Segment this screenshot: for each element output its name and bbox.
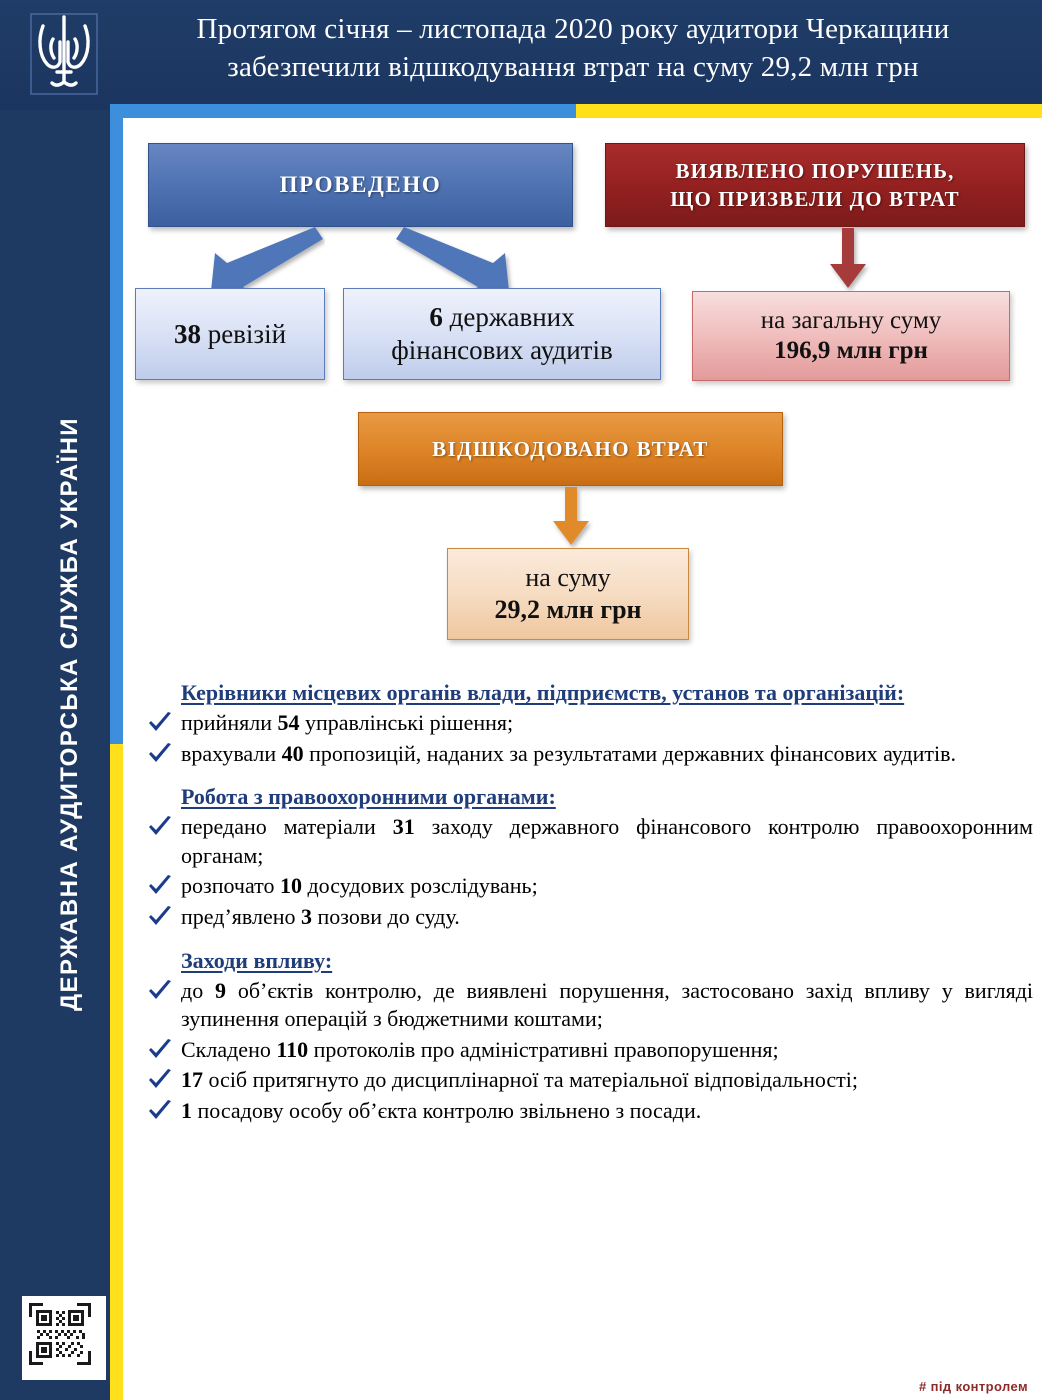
box-vyyavleno-line1: ВИЯВЛЕНО ПОРУШЕНЬ,: [675, 157, 954, 185]
box-vyyavleno-porushen[interactable]: ВИЯВЛЕНО ПОРУШЕНЬ, ЩО ПРИЗВЕЛИ ДО ВТРАТ: [605, 143, 1025, 227]
infographic-page: Протягом січня – листопада 2020 року ауд…: [0, 0, 1042, 1400]
box-suma-292-line2: 29,2 млн грн: [494, 594, 641, 626]
list-item: 17 осіб притягнуто до дисциплінарної та …: [143, 1066, 1033, 1095]
qr-code[interactable]: [22, 1296, 106, 1380]
check-icon: [147, 711, 173, 735]
list-item: Складено 110 протоколів про адміністрати…: [143, 1036, 1033, 1065]
list-item-text: прийняли 54 управлінські рішення;: [181, 710, 513, 735]
list-item: пред’явлено 3 позови до суду.: [143, 903, 1033, 932]
box-audyty-line1: 6 державних: [429, 301, 574, 334]
box-vidshkodovano-label: ВІДШКОДОВАНО ВТРАТ: [432, 437, 709, 462]
list-item-text: Складено 110 протоколів про адміністрати…: [181, 1037, 779, 1062]
hashtag-pid-kontrolem: # під контролем: [919, 1379, 1028, 1394]
box-provedeno-label: ПРОВЕДЕНО: [280, 172, 442, 198]
box-revizii-number: 38: [174, 319, 201, 349]
box-suma-292-line1: на суму: [525, 562, 610, 594]
list-item-text: передано матеріали 31 заходу державного …: [181, 814, 1033, 868]
check-icon: [147, 815, 173, 839]
section-heading: Робота з правоохоронними органами:: [181, 782, 1033, 811]
page-title: Протягом січня – листопада 2020 року ауд…: [118, 10, 1028, 87]
section-zakhody-vplyvu: Заходи впливу: до 9 об’єктів контролю, д…: [143, 946, 1033, 1126]
list-item-text: 17 осіб притягнуто до дисциплінарної та …: [181, 1067, 858, 1092]
check-icon: [147, 1038, 173, 1062]
box-audyty-line2: фінансових аудитів: [391, 334, 612, 367]
ukraine-trident-emblem: [20, 8, 108, 100]
list-item-text: врахували 40 пропозицій, наданих за резу…: [181, 741, 956, 766]
box-vyyavleno-line2: ЩО ПРИЗВЕЛИ ДО ВТРАТ: [670, 185, 959, 213]
list-item: передано матеріали 31 заходу державного …: [143, 813, 1033, 870]
box-vidshkodovano-vtrat[interactable]: ВІДШКОДОВАНО ВТРАТ: [358, 412, 783, 486]
section-kerivnyky: Керівники місцевих органів влади, підпри…: [143, 678, 1033, 768]
list-item-text: розпочато 10 досудових розслідувань;: [181, 873, 538, 898]
check-icon: [147, 742, 173, 766]
sections-list: Керівники місцевих органів влади, підпри…: [143, 678, 1033, 1140]
section-heading: Заходи впливу:: [181, 946, 1033, 975]
box-revizii[interactable]: 38 ревізій: [135, 288, 325, 380]
page-title-line1: Протягом січня – листопада 2020 року ауд…: [118, 10, 1028, 48]
flag-stripe-left: [110, 104, 123, 1400]
box-revizii-label: ревізій: [201, 319, 286, 349]
list-item-text: 1 посадову особу об’єкта контролю звільн…: [181, 1098, 701, 1123]
sidebar-agency-label: ДЕРЖАВНА АУДИТОРСЬКА СЛУЖБА УКРАЇНИ: [56, 314, 84, 1114]
check-icon: [147, 1099, 173, 1123]
flag-stripe-left-yellow: [110, 744, 123, 1400]
list-item: до 9 об’єктів контролю, де виявлені пору…: [143, 977, 1033, 1034]
header-banner: Протягом січня – листопада 2020 року ауд…: [0, 0, 1042, 110]
flag-stripe-top: [110, 104, 1042, 118]
box-revizii-text: 38 ревізій: [174, 319, 286, 350]
list-item-text: пред’явлено 3 позови до суду.: [181, 904, 460, 929]
box-audyty-label: державних: [443, 302, 575, 332]
check-icon: [147, 874, 173, 898]
box-audyty-number: 6: [429, 302, 443, 332]
page-title-line2: забезпечили відшкодування втрат на суму …: [118, 48, 1028, 86]
box-suma-196[interactable]: на загальну суму 196,9 млн грн: [692, 291, 1010, 381]
flag-stripe-top-yellow: [576, 104, 1042, 118]
flag-stripe-top-blue: [110, 104, 576, 118]
check-icon: [147, 979, 173, 1003]
box-suma-292[interactable]: на суму 29,2 млн грн: [447, 548, 689, 640]
list-item: 1 посадову особу об’єкта контролю звільн…: [143, 1097, 1033, 1126]
box-suma-196-line1: на загальну суму: [761, 306, 942, 337]
list-item: розпочато 10 досудових розслідувань;: [143, 872, 1033, 901]
check-icon: [147, 1068, 173, 1092]
box-suma-196-line2: 196,9 млн грн: [774, 336, 928, 367]
list-item: прийняли 54 управлінські рішення;: [143, 709, 1033, 738]
box-provedeno[interactable]: ПРОВЕДЕНО: [148, 143, 573, 227]
flag-stripe-left-blue: [110, 104, 123, 744]
section-heading: Керівники місцевих органів влади, підпри…: [181, 678, 1033, 707]
box-audyty[interactable]: 6 державних фінансових аудитів: [343, 288, 661, 380]
section-pravookhoronni: Робота з правоохоронними органами: перед…: [143, 782, 1033, 931]
list-item: врахували 40 пропозицій, наданих за резу…: [143, 740, 1033, 769]
list-item-text: до 9 об’єктів контролю, де виявлені пору…: [181, 978, 1033, 1032]
check-icon: [147, 905, 173, 929]
